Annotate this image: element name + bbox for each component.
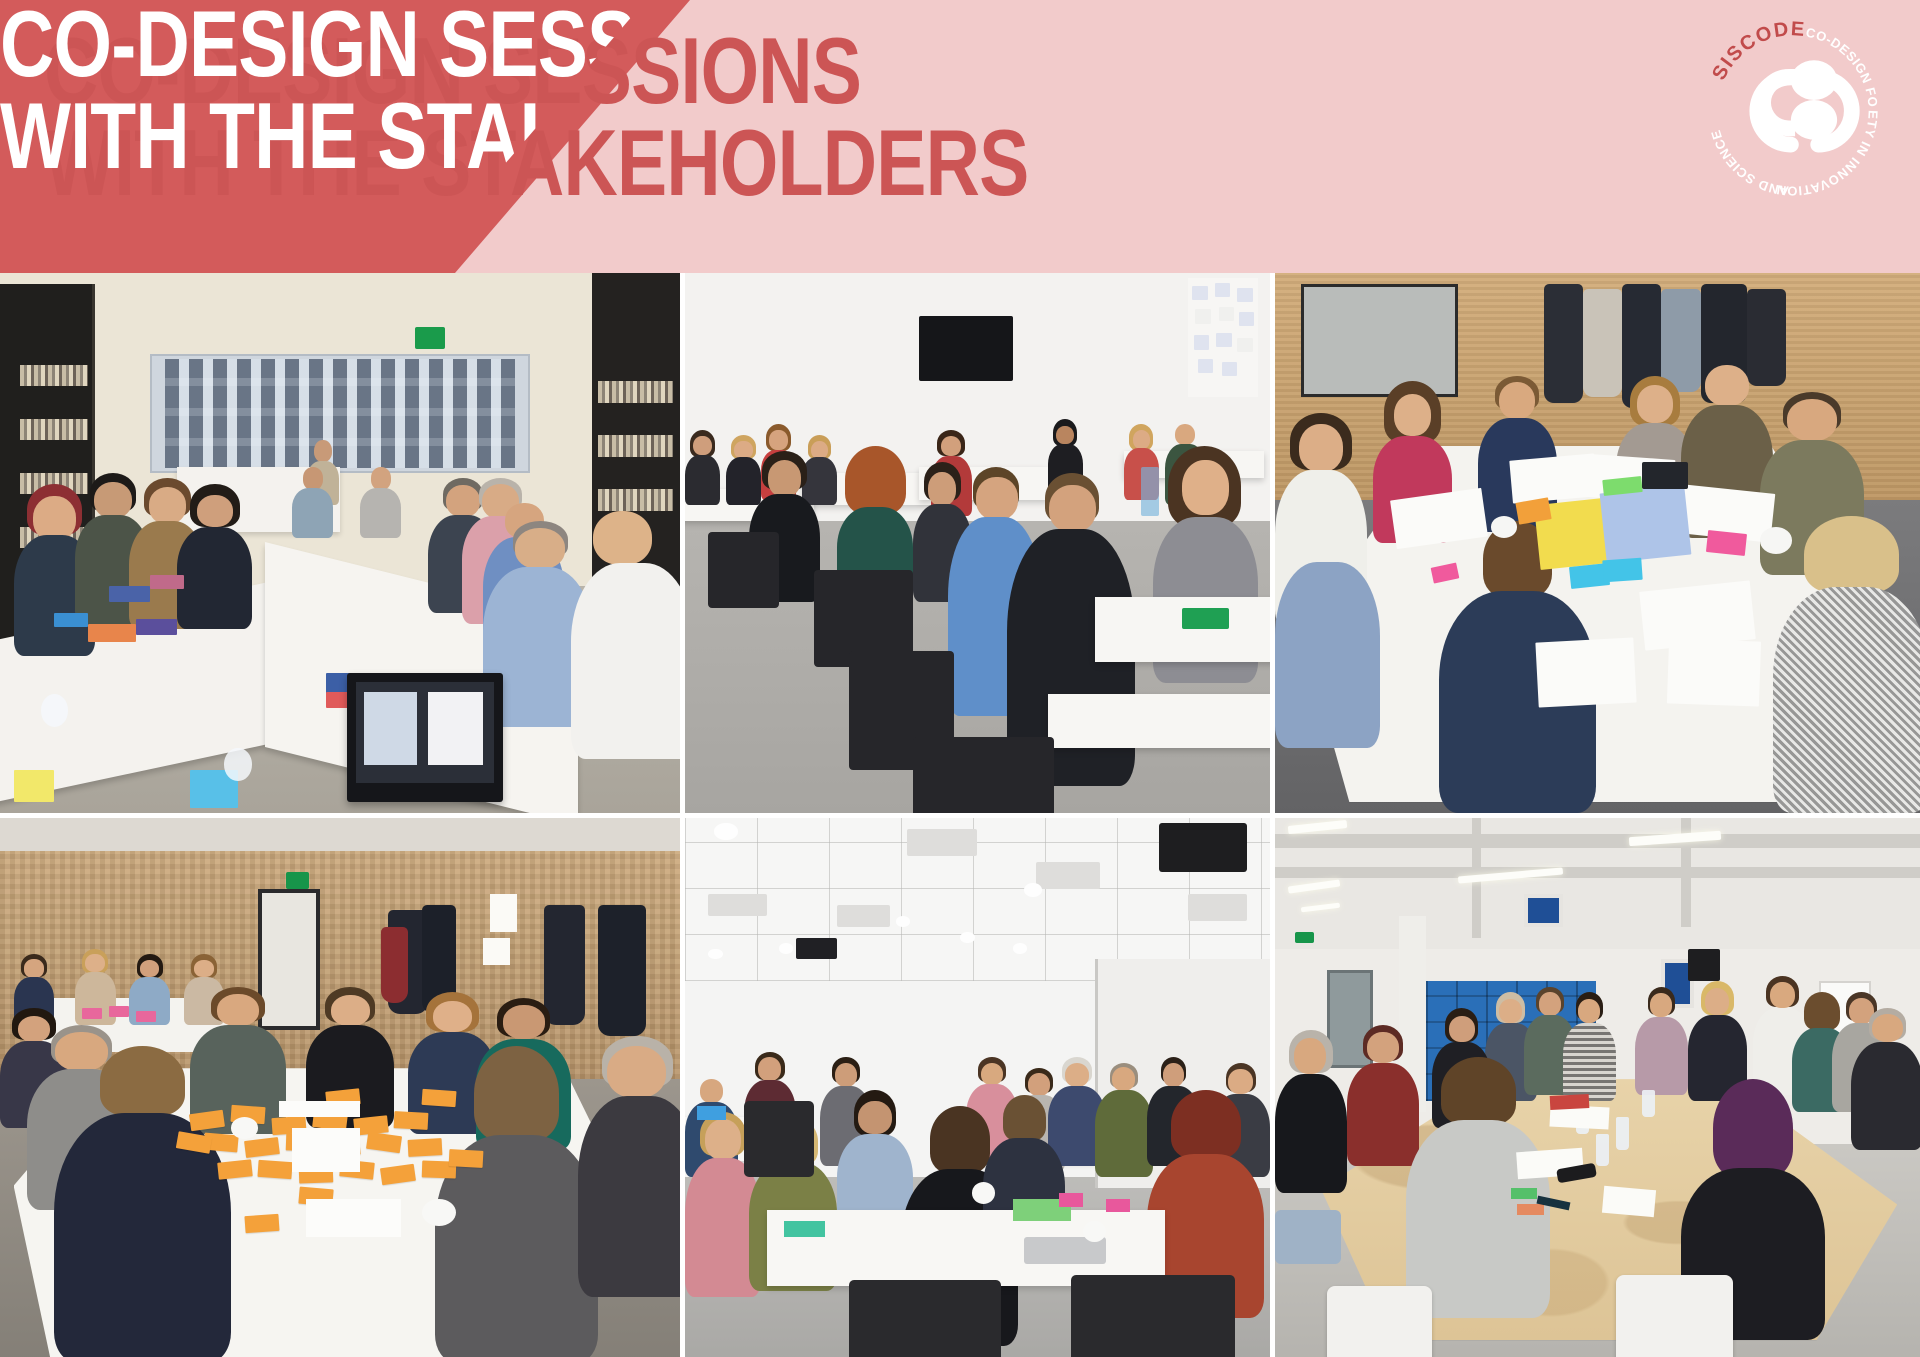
wall-monitor-icon xyxy=(919,316,1013,381)
projector-icon xyxy=(1159,823,1247,872)
laptop-icon xyxy=(347,673,503,803)
siscode-logo: SISCODE CO-DESIGN FOR SOCIETY IN INNOVAT… xyxy=(1688,6,1898,216)
gallery-photo-top-left[interactable] xyxy=(0,273,680,813)
gallery-photo-bottom-left[interactable] xyxy=(0,818,680,1357)
gallery-photo-bottom-middle[interactable] xyxy=(685,818,1270,1357)
sticky-note-wall xyxy=(1188,278,1258,397)
exit-sign-icon xyxy=(286,872,310,888)
gallery-photo-top-middle[interactable] xyxy=(685,273,1270,813)
exit-sign-icon xyxy=(415,327,446,349)
photo-gallery xyxy=(0,273,1920,1357)
gallery-photo-top-right[interactable] xyxy=(1275,273,1920,813)
speaker-icon xyxy=(1688,949,1721,982)
poster-root: CO-DESIGN SESSIONS WITH THE STAKEHOLDERS… xyxy=(0,0,1920,1357)
projector-icon-2 xyxy=(796,938,837,960)
exit-sign-icon xyxy=(1295,932,1315,943)
gallery-photo-bottom-right[interactable] xyxy=(1275,818,1920,1357)
title-banner: CO-DESIGN SESSIONS WITH THE STAKEHOLDERS… xyxy=(0,0,1920,273)
